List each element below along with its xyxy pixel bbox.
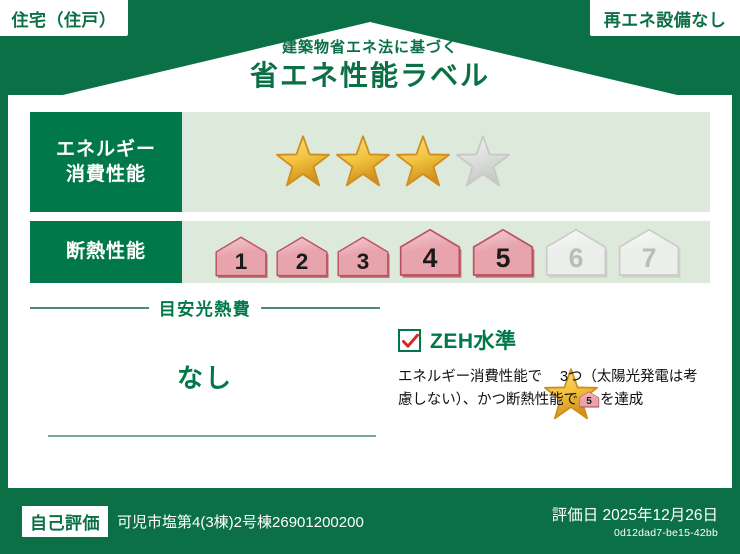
- star-rating: [274, 134, 512, 190]
- svg-text:2: 2: [296, 249, 309, 274]
- label-card: エネルギー 消費性能 断熱性能: [8, 95, 732, 488]
- utility-rule-left: [30, 307, 149, 309]
- insulation-level-6: 6: [541, 227, 611, 279]
- insulation-level-1: 1: [212, 235, 270, 279]
- insulation-level-4: 4: [395, 227, 465, 279]
- badge-building-type: 住宅（住戸）: [0, 0, 128, 36]
- star-filled-icon: [334, 134, 392, 190]
- building-name: 可児市塩第4(3棟)2号棟26901200200: [117, 511, 364, 532]
- insulation-level-scale: 1 2 3 4 5 6: [212, 221, 684, 283]
- utility-cost-column: 目安光熱費 なし: [30, 283, 380, 473]
- insulation-level-3: 3: [334, 235, 392, 279]
- svg-text:7: 7: [642, 243, 657, 273]
- page-title: 省エネ性能ラベル: [0, 61, 740, 92]
- insulation-level-2: 2: [273, 235, 331, 279]
- energy-performance-label: 住宅（住戸） 再エネ設備なし 建築物省エネ法に基づく 省エネ性能ラベル エネルギ…: [0, 0, 740, 554]
- footer-left: 自己評価 可児市塩第4(3棟)2号棟26901200200: [22, 506, 552, 537]
- svg-text:5: 5: [496, 243, 511, 273]
- svg-text:3: 3: [357, 249, 370, 274]
- zeh-title: ZEH水準: [430, 325, 517, 355]
- evaluation-date: 評価日 2025年12月26日: [552, 503, 718, 525]
- utility-cost-heading-text: 目安光熱費: [149, 295, 262, 320]
- insulation-level-5: 5: [468, 227, 538, 279]
- insulation-performance-body: 1 2 3 4 5 6: [182, 221, 710, 283]
- zeh-desc-part4: を達成: [600, 392, 643, 408]
- footer: 自己評価 可児市塩第4(3棟)2号棟26901200200 評価日 2025年1…: [0, 488, 740, 554]
- insulation-level-badge-5: 5: [578, 391, 600, 408]
- energy-performance-body: [182, 112, 710, 212]
- zeh-desc-part1: エネルギー消費性能で: [398, 369, 542, 385]
- utility-cost-value: なし: [30, 358, 380, 395]
- lower-section: 目安光熱費 なし ZEH水準 エネルギー消費性能で: [30, 283, 710, 473]
- svg-text:1: 1: [235, 249, 248, 274]
- utility-cost-bottom-divider: [48, 435, 376, 437]
- title-subtitle: 建築物省エネ法に基づく: [0, 40, 740, 57]
- energy-performance-label-box: エネルギー 消費性能: [30, 112, 182, 212]
- inline-star-icon: [542, 367, 560, 385]
- energy-label-line2: 消費性能: [66, 162, 146, 187]
- utility-rule-right: [261, 307, 380, 309]
- svg-text:4: 4: [423, 243, 438, 273]
- zeh-column: ZEH水準 エネルギー消費性能で 3つ（太陽光発電は考慮しない）、かつ断熱性能で…: [380, 283, 710, 473]
- inline-house-badge-icon: 5: [578, 391, 600, 408]
- energy-performance-row: エネルギー 消費性能: [30, 112, 710, 212]
- zeh-checkbox: [398, 329, 421, 352]
- zeh-heading: ZEH水準: [398, 325, 710, 355]
- star-filled-icon: [394, 134, 452, 190]
- document-id: 0d12dad7-be15-42bb: [552, 527, 718, 539]
- zeh-desc-part2: 3つ（太陽光発電: [560, 369, 669, 385]
- footer-right: 評価日 2025年12月26日 0d12dad7-be15-42bb: [552, 503, 718, 539]
- insulation-level-7: 7: [614, 227, 684, 279]
- insulation-performance-label-box: 断熱性能: [30, 221, 182, 283]
- svg-text:6: 6: [569, 243, 584, 273]
- star-empty-icon: [454, 134, 512, 190]
- title-block: 建築物省エネ法に基づく 省エネ性能ラベル: [0, 40, 740, 91]
- self-evaluation-badge: 自己評価: [22, 506, 108, 537]
- badge-renewable-equipment: 再エネ設備なし: [590, 0, 740, 36]
- utility-cost-heading: 目安光熱費: [30, 295, 380, 320]
- zeh-description: エネルギー消費性能で 3つ（太陽光発電は考慮しない）、かつ断熱性能で 5 を達成: [398, 366, 710, 413]
- checkmark-icon: [401, 332, 420, 351]
- insulation-performance-row: 断熱性能 1 2 3 4: [30, 221, 710, 283]
- svg-text:5: 5: [586, 397, 592, 408]
- star-filled-icon: [274, 134, 332, 190]
- energy-label-line1: エネルギー: [56, 137, 156, 162]
